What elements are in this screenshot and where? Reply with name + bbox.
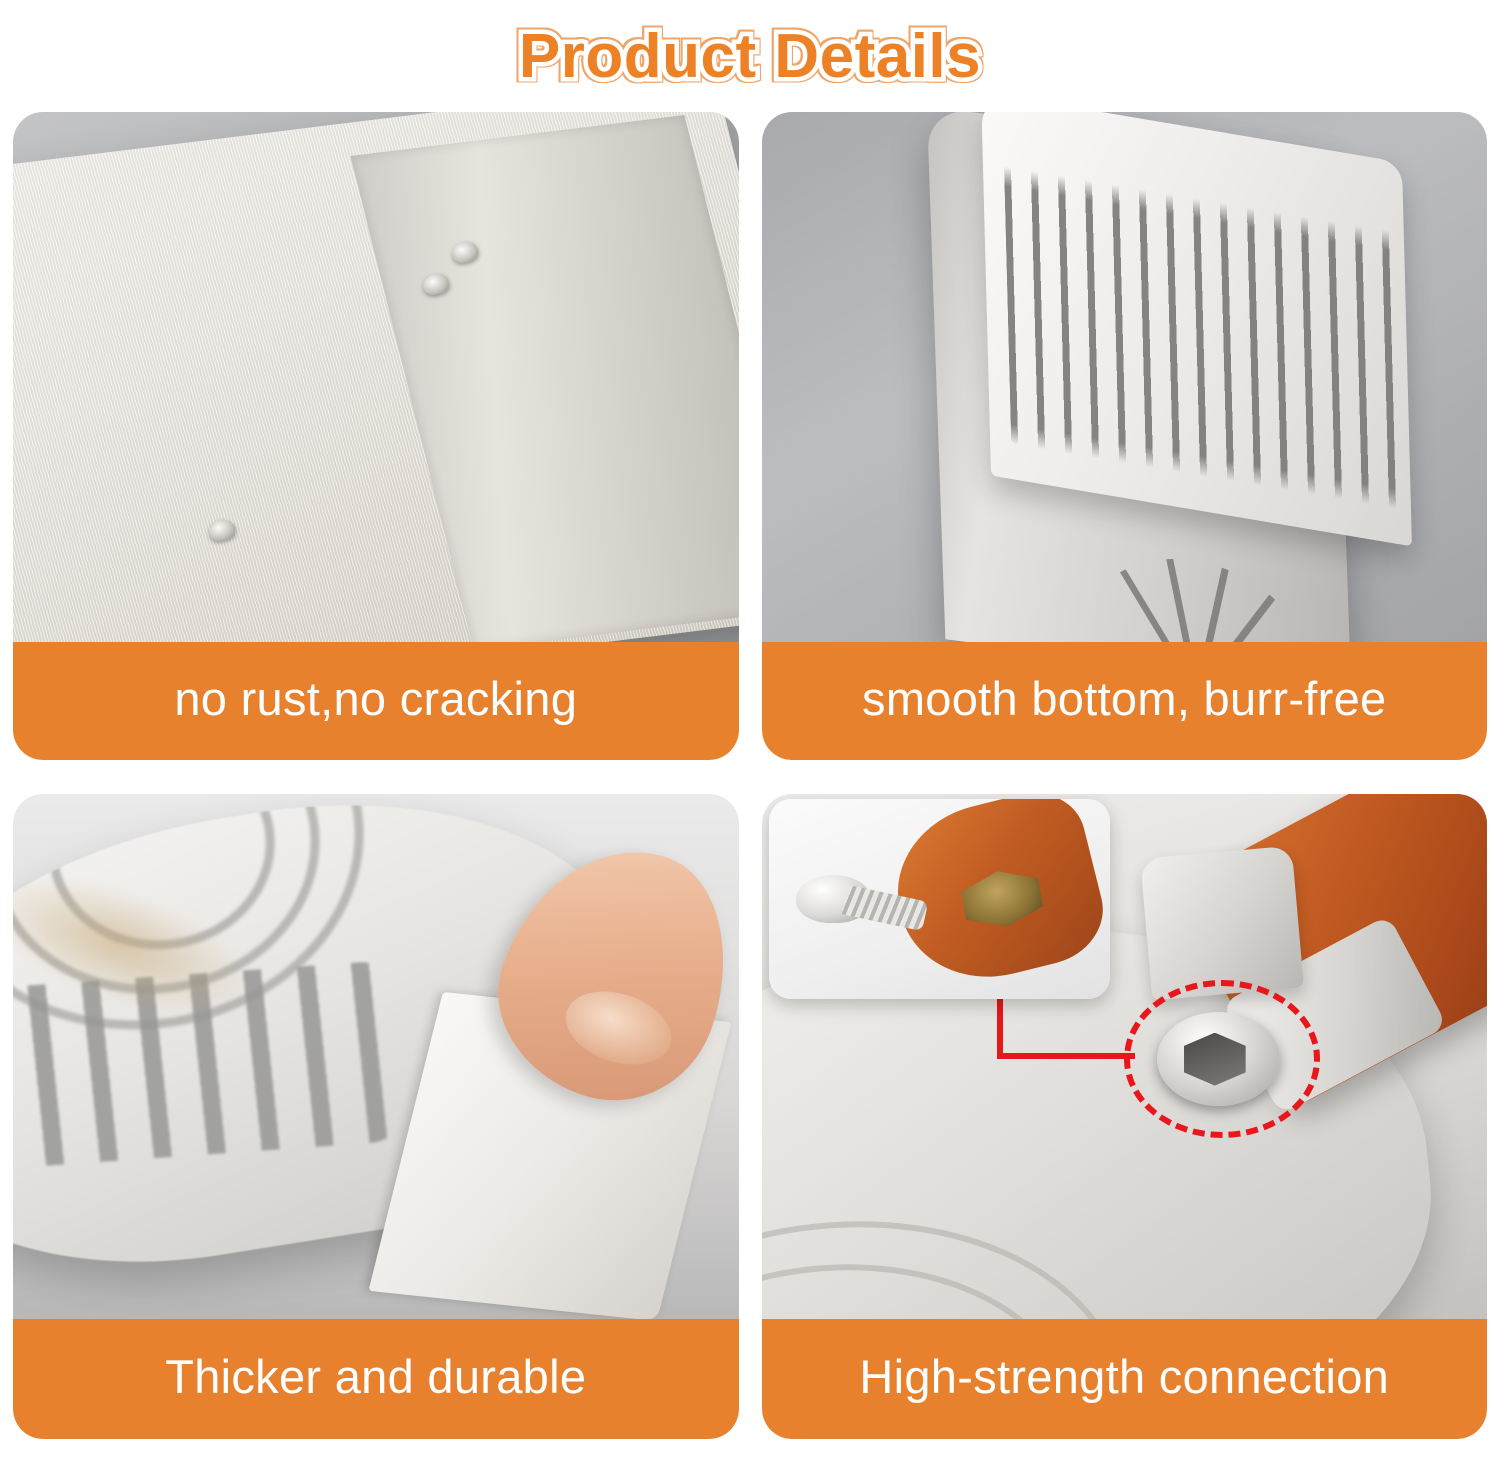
annotation-dashed-circle xyxy=(1124,980,1320,1138)
caption-smooth-bottom: smooth bottom, burr-free xyxy=(762,642,1488,760)
product-detail-card-no-rust[interactable]: no rust,no cracking xyxy=(13,112,739,760)
caption-high-strength: High-strength connection xyxy=(762,1319,1488,1439)
header: Product Details xyxy=(0,0,1500,112)
grill-slots xyxy=(1004,160,1398,509)
caption-no-rust: no rust,no cracking xyxy=(13,642,739,760)
annotation-leader-line xyxy=(997,1053,1135,1059)
caption-thicker-durable: Thicker and durable xyxy=(13,1319,739,1439)
product-photo-handle-connection xyxy=(762,794,1488,1319)
product-photo-brushed-plate xyxy=(13,112,739,642)
product-detail-card-high-strength[interactable]: High-strength connection xyxy=(762,794,1488,1439)
product-detail-card-thicker-durable[interactable]: Thicker and durable xyxy=(13,794,739,1439)
product-photo-slotted-grill xyxy=(762,112,1488,642)
product-details-grid: no rust,no cracking smooth bottom, burr-… xyxy=(0,112,1500,1439)
handle-mount-tab xyxy=(1140,845,1304,999)
product-detail-card-smooth-bottom[interactable]: smooth bottom, burr-free xyxy=(762,112,1488,760)
inset-callout-bolt-detail xyxy=(769,799,1110,999)
product-photo-blade-thickness xyxy=(13,794,739,1319)
page-title: Product Details xyxy=(519,21,981,92)
